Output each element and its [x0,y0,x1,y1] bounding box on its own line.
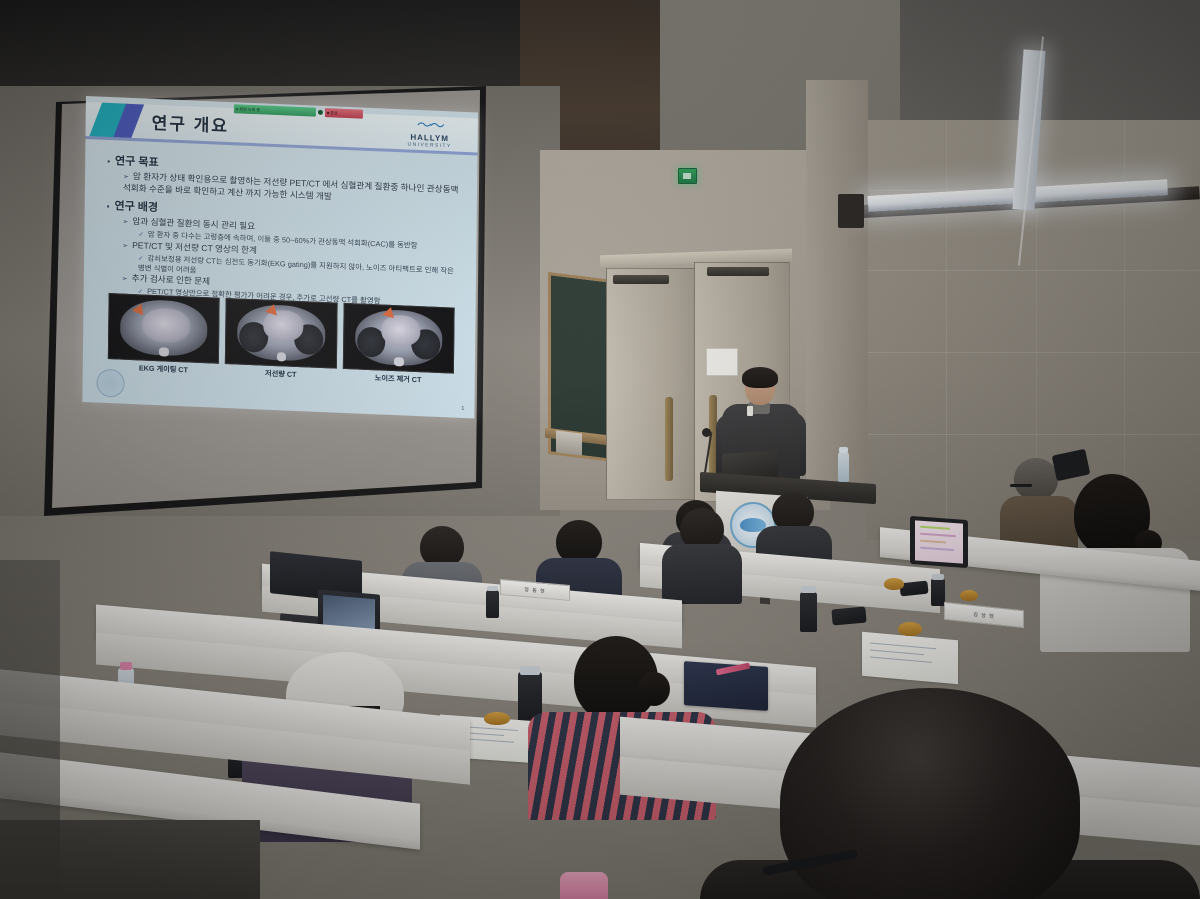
snack-item [960,590,978,601]
aisle-shadow [0,560,60,899]
exit-sign [678,168,697,184]
beverage-bottle [486,590,499,618]
ct-caption-1: EKG 게이팅 CT [139,363,188,375]
wall-column [806,80,868,500]
ct-figure-1: EKG 게이팅 CT [109,293,219,380]
handout-paper-2 [862,632,958,684]
ct-caption-2: 저선량 CT [265,369,297,380]
lecture-hall-photo: 연구 개요 〜〜 HALLYM UNIVERSITY ● 화면 녹화 중 ■ 종… [0,0,1200,899]
bottle-cap-pink [120,662,132,670]
slide-watermark-emblem [96,369,124,398]
snack-item [898,622,922,636]
snack-item [484,712,510,725]
ceiling-dark-left [0,0,520,86]
presenter-badge [747,406,753,416]
tablet-device[interactable] [910,516,968,568]
hallym-logo: 〜〜 HALLYM UNIVERSITY [396,117,464,150]
bottle-cap [520,666,540,675]
light-bracket [838,194,864,228]
bottle-cap [487,586,498,591]
beverage-bottle [931,578,945,606]
microphone-icon [702,428,711,437]
ct-scan-image-3 [343,303,455,374]
chalk-box [556,430,582,455]
ct-figure-2: 저선량 CT [226,298,336,385]
bottle-cap [932,574,944,580]
podium-bottle-cap [839,447,848,453]
hair-bun [638,672,670,706]
door-notice-sign [706,348,738,376]
beverage-bottle [800,592,817,632]
stop-record-button[interactable]: ■ 종료 [325,108,363,119]
glasses-icon [1010,484,1032,487]
ct-figure-row: EKG 게이팅 CT 저선량 CT [109,293,454,389]
presenter-hair [742,367,778,388]
door-left[interactable] [606,268,696,500]
smartphone[interactable] [831,607,866,626]
ct-scan-image-2 [225,298,337,369]
ct-scan-image-1 [108,293,220,364]
projected-slide: 연구 개요 〜〜 HALLYM UNIVERSITY ● 화면 녹화 중 ■ 종… [82,96,478,432]
pink-cup [560,872,608,899]
slide-page-number: 1 [461,406,464,412]
slide-title: 연구 개요 [152,109,230,137]
torso [662,544,742,604]
record-indicator-dot [318,110,323,115]
bottle-cap [801,586,816,593]
ct-figure-3: 노이즈 제거 CT [343,303,453,390]
snack-item [884,578,904,590]
head [1014,458,1058,500]
ct-caption-3: 노이즈 제거 CT [375,373,422,385]
slide-body: 연구 목표 암 환자가 상태 확인용으로 촬영하는 저선량 PET/CT 에서 … [102,147,464,311]
podium-water-bottle [838,452,849,482]
